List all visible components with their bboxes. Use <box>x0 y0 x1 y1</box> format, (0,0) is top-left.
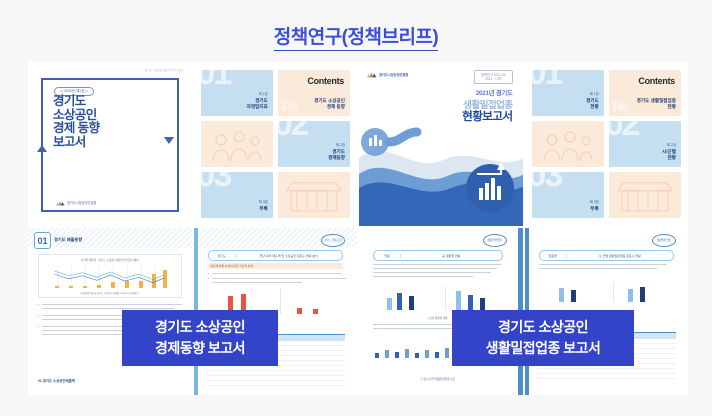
pill-value: 전년 대비 매출액 및 소상공인 점포수 변화 분석 <box>236 254 343 258</box>
pill-value: 공 생활업 현황 <box>401 254 502 258</box>
chart-bars-right <box>280 288 339 314</box>
section-number: 03 <box>532 172 562 192</box>
table-row <box>206 381 346 386</box>
thumbnail-report1-contents[interactable]: 01 제 1장 경기도 자영업지표 Contents Re 경기도 소상공인 경… <box>194 62 358 226</box>
section-title-line2: 현황 <box>662 155 676 160</box>
section-title-line1: 시/군별 <box>662 149 676 154</box>
section-chapter: 제 1장 <box>586 91 599 96</box>
cover2-title-line3: 현황보고서 <box>462 108 512 124</box>
page-banner: 매출액 변화 분석이 대한 기초적 분석 <box>208 263 344 269</box>
ghost-watermark: Re <box>282 98 298 114</box>
contents-art-shop <box>609 172 681 218</box>
section-number: 02 <box>278 121 308 141</box>
contents-section-03: 03 제 3장 부록 <box>201 172 273 218</box>
contents-heading-box: Contents Re 경기도 소상공인 경제 동향 <box>278 70 350 116</box>
storefront-illustration-icon <box>283 179 345 215</box>
section-number: 03 <box>201 172 231 192</box>
section-title-line1: 부록 <box>259 206 268 211</box>
contents-label: Contents <box>638 76 675 86</box>
section-chapter: 제 3장 <box>259 199 268 204</box>
ghost-watermark: Re <box>613 98 629 114</box>
page-title: 정책연구(정책브리프) <box>0 22 712 49</box>
cover2-title-line1: 2021년 경기도 <box>476 88 513 97</box>
people-illustration-icon <box>538 128 598 167</box>
page-section-badge: 경기도 매출동향 <box>321 234 345 247</box>
contents-section-02: 02 제 2장 시/군별 현황 <box>609 121 681 167</box>
contents-label: Contents <box>307 76 344 86</box>
organization-logo: 경기도시장상권진흥원 <box>367 70 408 78</box>
contents-art-people <box>532 121 604 167</box>
chart-bars-right <box>445 286 502 310</box>
cover-title-line1: 경기도 <box>53 95 99 109</box>
contents-subtitle: 경기도 생활밀접업종 현황 <box>637 98 676 109</box>
overlay-line2: 생활밀접업종 보고서 <box>486 338 601 359</box>
contents-section-01: 01 제 1장 경기도 현황 <box>532 70 604 116</box>
contents-section-03: 03 제 3장 부록 <box>532 172 604 218</box>
page-footnote: 01.경기도 소상공인매출액 <box>38 378 182 381</box>
cover-title-line4: 보고서 <box>53 136 99 150</box>
section-title-line1: 경기도 <box>586 98 599 103</box>
contents-heading-box: Contents Re 경기도 생활밀접업종 현황 <box>609 70 681 116</box>
footnote-title: 01.경기도 소상공인매출액 <box>38 378 75 383</box>
cover-top-note: 경기도 소상공인 경기동향 분석보고 <box>36 68 184 72</box>
section-heading: 제 2장 경기도 경제동향 <box>328 142 345 160</box>
gg-mark-icon <box>367 70 377 78</box>
chart-bars-left <box>545 282 601 302</box>
overlay-line1: 경기도 소상공인 <box>155 317 245 338</box>
chart-title: 분기별 매출액 · 경기도 소상공인 매출액 전년동기대비 <box>39 258 181 262</box>
cover2-issue-badge: 정책연구 2021-03 2021 · 12월 <box>474 70 512 84</box>
cover2-badge-line2: 2021 · 12월 <box>481 77 505 81</box>
cover-title-line3: 경제 동향 <box>53 122 99 136</box>
pill-key: 현황 <box>374 254 401 258</box>
overlay-label-report2[interactable]: 경기도 소상공인 생활밀접업종 보고서 <box>452 310 634 366</box>
page-topic-pill: 현황 공 생활업 현황 <box>373 250 503 261</box>
storefront-illustration-icon <box>614 179 676 215</box>
section-title: 경기도 매출동향 <box>54 237 82 243</box>
section-chapter: 제 2장 <box>328 142 345 147</box>
section-heading: 제 3장 부록 <box>590 199 599 211</box>
contents-subtitle: 경기도 소상공인 경제 동향 <box>314 98 345 109</box>
banner-text: 매출액 변화 분석이 대한 기초적 분석 <box>208 263 344 269</box>
pill-value: 시·군별 생활밀접업종 점포수 현황 <box>567 254 674 258</box>
cover-title-line2: 소상공인 <box>53 109 99 123</box>
section-title-line1: 부록 <box>590 206 599 211</box>
contents-subtitle-line1: 경기도 생활밀접업종 <box>637 98 676 103</box>
overlay-label-report1[interactable]: 경기도 소상공인 경제동향 보고서 <box>122 310 278 366</box>
chart-bars-left <box>377 286 433 310</box>
contents-section-01: 01 제 1장 경기도 자영업지표 <box>201 70 273 116</box>
section-chapter: 제 1장 <box>247 91 268 96</box>
section-number-badge: 01 <box>34 232 51 249</box>
section-heading: 제 3장 부록 <box>259 199 268 211</box>
section-chapter: 제 3장 <box>590 199 599 204</box>
pill-key: 업종별 <box>540 254 567 258</box>
thumbnail-report1-cover[interactable]: 경기도 소상공인 경기동향 분석보고 ◁ 2025년 제1호 ▷ 경기도 소상공… <box>28 62 192 226</box>
chart-caption-2: [그림] 시군별 생활밀접업종 분포 <box>373 377 503 381</box>
pill-key: 경기도 <box>209 254 236 258</box>
section-number: 01 <box>532 70 562 90</box>
page-topic-pill: 업종별 시·군별 생활밀접업종 점포수 현황 <box>539 250 675 261</box>
people-illustration-icon <box>207 128 267 167</box>
chart-legend: ■ 매출액(억원) ◆ 경기도 소상공인 증감률(%) ◆ 전국 증감률(%) <box>39 291 181 295</box>
cover2-wave-graphic <box>359 62 523 226</box>
arrow-up-icon <box>37 145 47 152</box>
chart-container: 분기별 매출액 · 경기도 소상공인 매출액 전년동기대비 <box>38 254 182 298</box>
section-title-line2: 자영업지표 <box>247 104 268 109</box>
contents-section-02: 02 제 2장 경기도 경제동향 <box>278 121 350 167</box>
page-section-badge: 생활밀접업종 <box>483 234 507 247</box>
section-title-line2: 현황 <box>586 104 599 109</box>
table-row <box>537 374 677 379</box>
overlay-line2: 경제동향 보고서 <box>155 338 245 359</box>
contents-subtitle-line2: 현황 <box>637 104 676 109</box>
page-topic-pill: 경기도 전년 대비 매출액 및 소상공인 점포수 변화 분석 <box>208 250 344 261</box>
contents-subtitle-line1: 경기도 소상공인 <box>314 98 345 103</box>
section-title-line2: 경제동향 <box>328 155 345 160</box>
arrow-down-icon <box>164 137 174 144</box>
section-number: 02 <box>609 121 639 141</box>
page-section-badge: 생활밀접업종 <box>652 234 676 247</box>
section-heading: 제 1장 경기도 자영업지표 <box>247 91 268 109</box>
thumbnail-report2-cover[interactable]: 경기도시장상권진흥원 정책연구 2021-03 2021 · 12월 2021년… <box>359 62 523 226</box>
chart-bars-right <box>613 282 670 302</box>
organization-logo: 경기도시장상권진흥원 <box>56 199 96 206</box>
page-header-hatch <box>28 228 192 248</box>
contents-art-people <box>201 121 273 167</box>
gg-mark-icon <box>56 199 65 206</box>
contents-art-shop <box>278 172 350 218</box>
page-title-text: 정책연구(정책브리프) <box>274 27 438 51</box>
section-chapter: 제 2장 <box>662 142 676 147</box>
section-heading: 제 1장 경기도 현황 <box>586 91 599 109</box>
organization-logo-text: 경기도시장상권진흥원 <box>67 200 96 205</box>
organization-logo-text: 경기도시장상권진흥원 <box>379 72 408 77</box>
chart-plot-area <box>47 265 175 288</box>
overlay-line1: 경기도 소상공인 <box>498 317 588 338</box>
thumbnail-report2-contents[interactable]: 01 제 1장 경기도 현황 Contents Re 경기도 생활밀접업종 현황 <box>525 62 689 226</box>
contents-subtitle-line2: 경제 동향 <box>314 104 345 109</box>
section-heading: 제 2장 시/군별 현황 <box>662 142 676 160</box>
cover-title: 경기도 소상공인 경제 동향 보고서 <box>53 95 99 149</box>
chart-line-series <box>47 265 175 288</box>
section-number: 01 <box>201 70 231 90</box>
